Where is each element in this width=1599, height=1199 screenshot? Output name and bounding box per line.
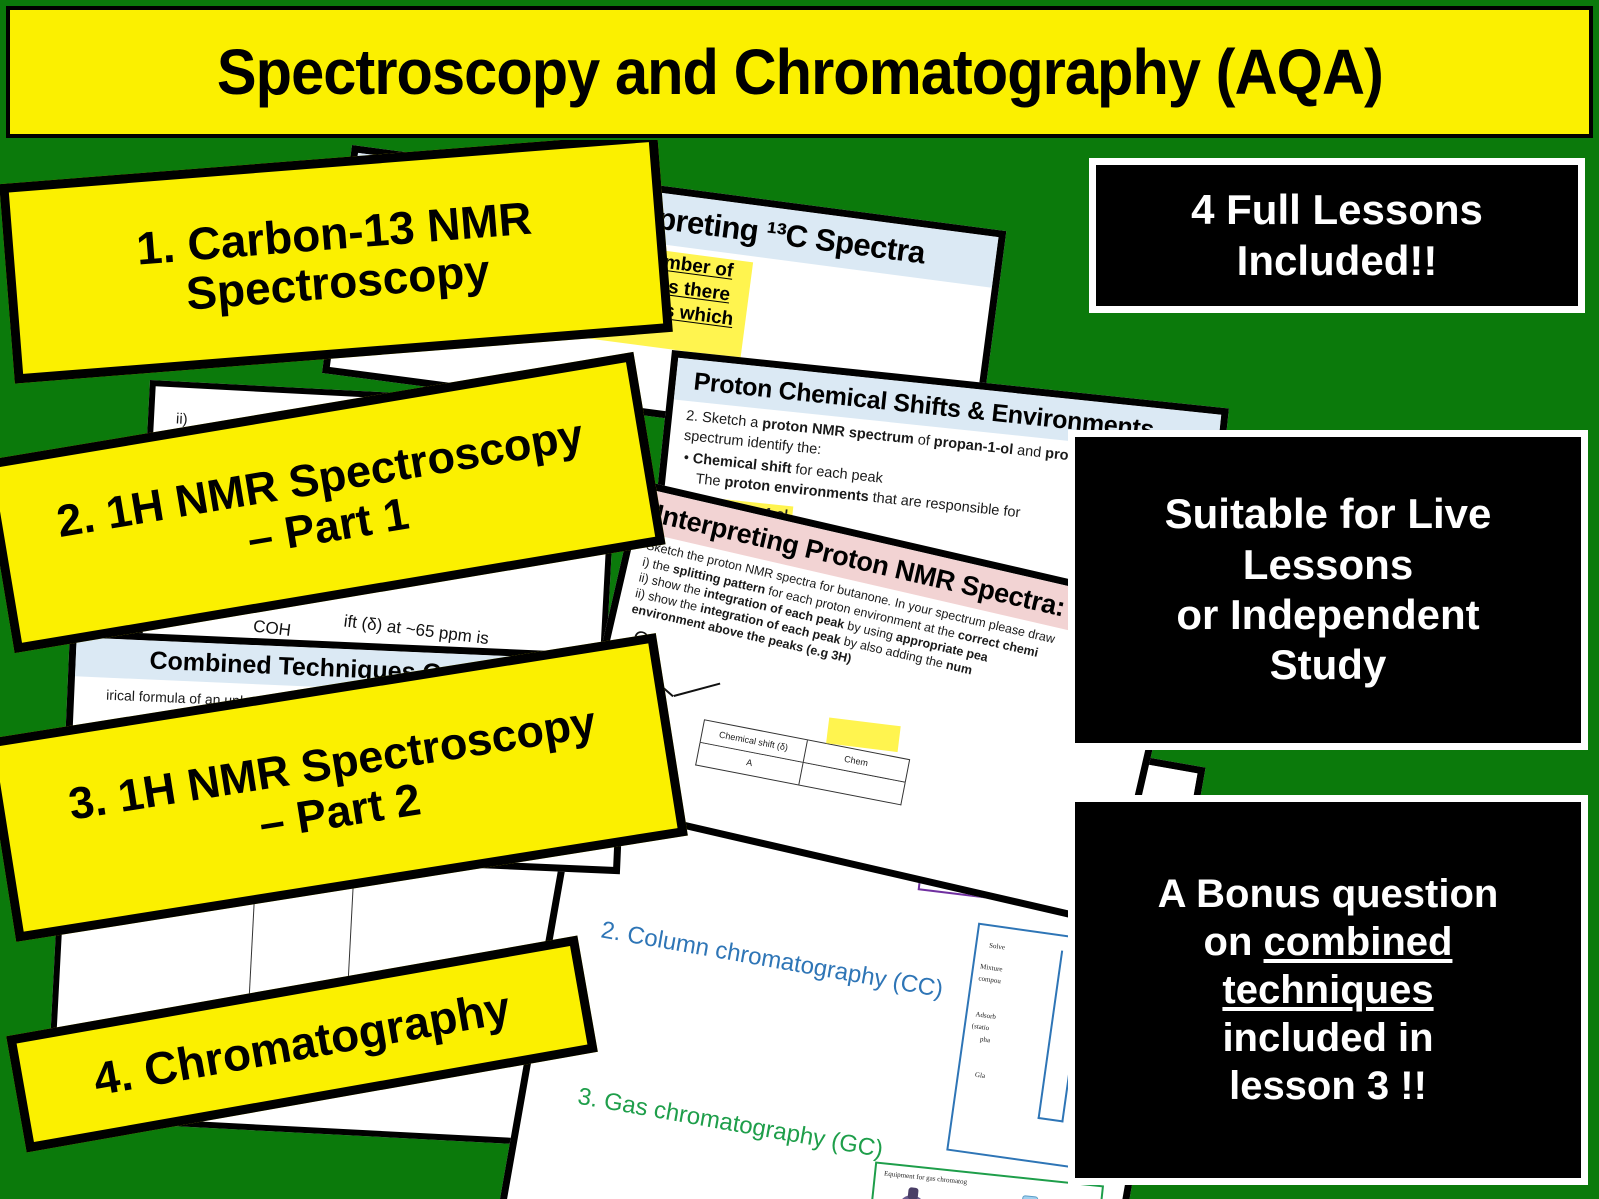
cc-label-adsorbent: Adsorb (975, 1011, 996, 1021)
promo-suitable-line2: Lessons (1243, 540, 1413, 590)
page-title: Spectroscopy and Chromatography (AQA) (216, 35, 1382, 109)
promo-bonus-combined: combined (1264, 920, 1453, 964)
promo-lessons-line2: Included!! (1237, 236, 1438, 286)
promo-box-lessons: 4 Full Lessons Included!! (1089, 158, 1585, 313)
promo-lessons-line1: 4 Full Lessons (1191, 185, 1483, 235)
promo-bonus-line3: included in (1222, 1014, 1433, 1062)
ps-b2a: The (695, 471, 726, 490)
cc-label-phase: pha (979, 1036, 990, 1045)
cc-label-mixture: Mixture (980, 963, 1003, 974)
promo-bonus-techniques: techniques (1222, 966, 1433, 1014)
promo-bonus-line2: on combined (1204, 918, 1453, 966)
gc-caption: Equipment for gas chromatog (884, 1170, 968, 1186)
cc-label-stationary: (statio (971, 1023, 989, 1033)
cc-label-solvent: Solve (989, 942, 1006, 952)
cc-label-glass: Gla (974, 1072, 985, 1081)
promo-bonus-line4: lesson 3 !! (1229, 1062, 1427, 1110)
page-title-banner: Spectroscopy and Chromatography (AQA) (6, 6, 1593, 138)
ps-l1c: of (913, 432, 935, 450)
promo-box-suitable: Suitable for Live Lessons or Independent… (1068, 430, 1588, 750)
promo-box-bonus: A Bonus question on combined techniques … (1068, 795, 1588, 1185)
promo-bonus-line1: A Bonus question (1158, 870, 1499, 918)
promo-bonus-on: on (1204, 920, 1264, 964)
cc-label-compound: compou (978, 975, 1001, 986)
promo-suitable-line4: Study (1270, 640, 1387, 690)
ps-l1e: and (1012, 442, 1046, 461)
promo-suitable-line3: or Independent (1176, 590, 1479, 640)
promo-suitable-line1: Suitable for Live (1165, 489, 1492, 539)
cover-collage: Model Answer-Interpreting ¹³C Spectra OH… (0, 140, 1599, 1199)
